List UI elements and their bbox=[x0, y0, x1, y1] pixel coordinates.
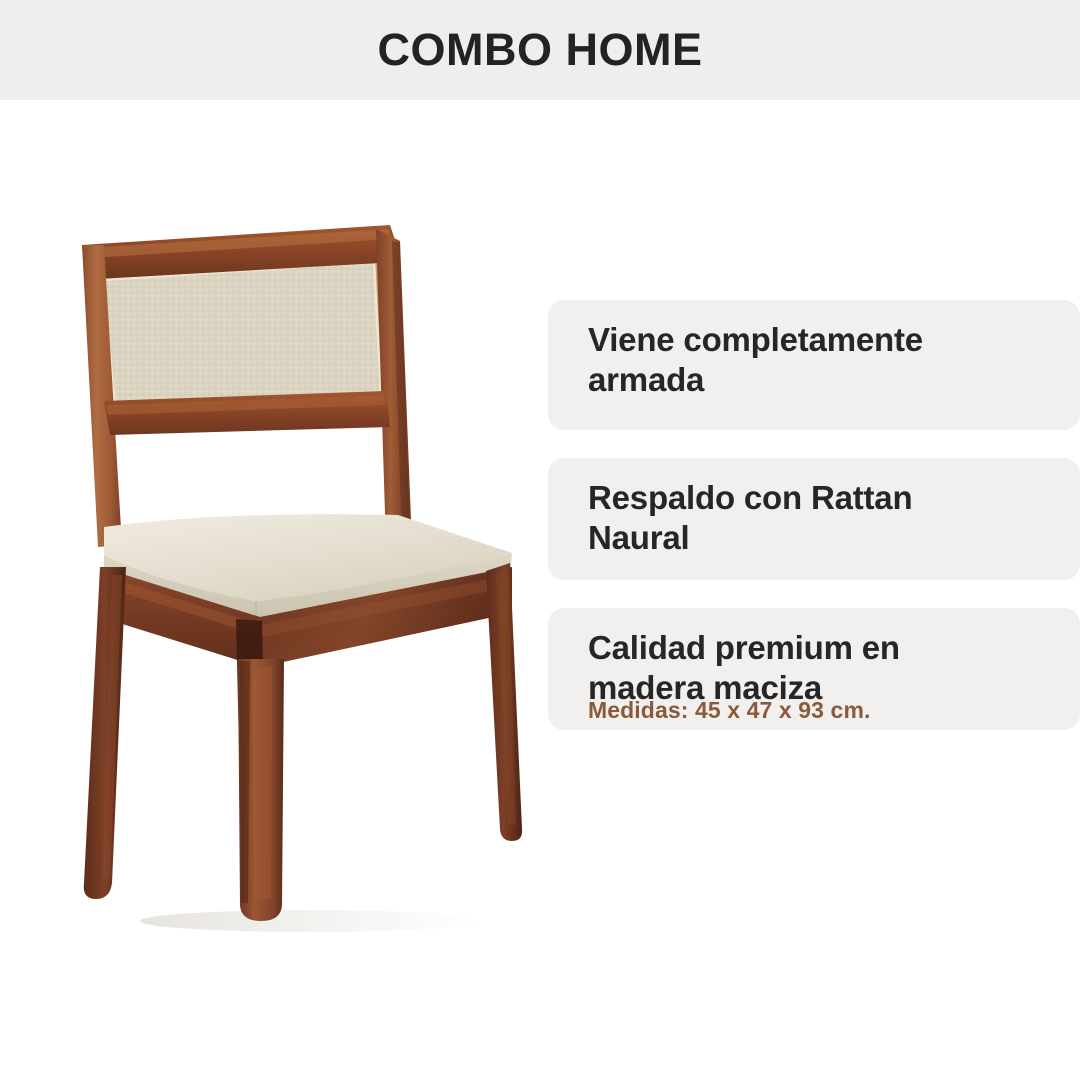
feature-pill: Respaldo con Rattan Naural bbox=[548, 458, 1080, 580]
feature-label: Viene completamente armada bbox=[588, 320, 1018, 400]
page-title: COMBO HOME bbox=[0, 0, 1080, 100]
measurements-label: Medidas: 45 x 47 x 93 cm. bbox=[588, 697, 871, 724]
feature-list: Viene completamente armada Respaldo con … bbox=[548, 300, 1080, 758]
product-card: COMBO HOME bbox=[0, 0, 1080, 1080]
chair-illustration bbox=[60, 215, 560, 945]
feature-label: Calidad premium en madera maciza bbox=[588, 628, 1018, 708]
product-image bbox=[60, 215, 560, 945]
feature-pill: Viene completamente armada bbox=[548, 300, 1080, 430]
feature-label: Respaldo con Rattan Naural bbox=[588, 478, 1018, 558]
